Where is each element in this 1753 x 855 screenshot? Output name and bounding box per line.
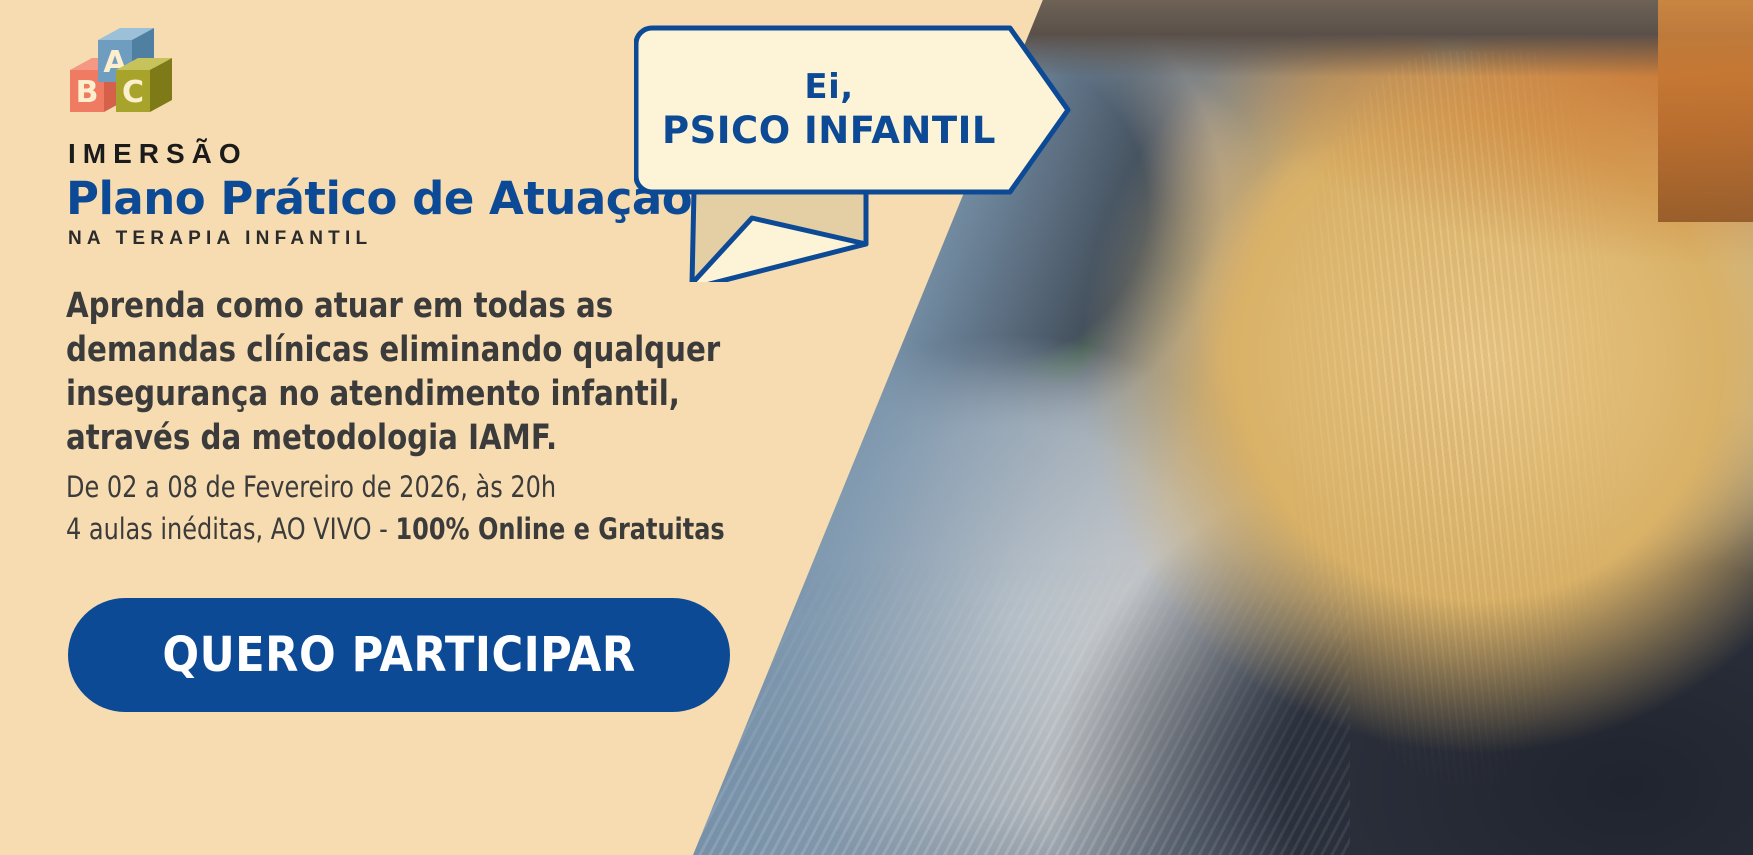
block-c-icon: C — [116, 58, 172, 112]
speech-bubble: Ei, PSICO INFANTIL — [634, 22, 1074, 282]
wall-panel — [1658, 0, 1753, 222]
svg-text:C: C — [122, 75, 144, 110]
svg-text:B: B — [76, 75, 99, 110]
page-title: Plano Prático de Atuação — [66, 172, 692, 225]
offer-line-highlight: 100% Online e Gratuitas — [395, 512, 724, 546]
promo-banner: B A C IMERSÃO Plano Prático de Atuação N… — [0, 0, 1753, 855]
offer-line-prefix: 4 aulas inéditas, AO VIVO - — [66, 512, 395, 546]
page-subtitle: NA TERAPIA INFANTIL — [68, 228, 372, 250]
floor-mat-texture — [693, 462, 1350, 855]
offer-line: 4 aulas inéditas, AO VIVO - 100% Online … — [66, 512, 725, 546]
bubble-body — [636, 28, 1068, 192]
eyebrow-label: IMERSÃO — [68, 138, 248, 170]
lede-paragraph: Aprenda como atuar em todas as demandas … — [66, 284, 773, 460]
abc-blocks-logo: B A C — [68, 28, 188, 136]
quero-participar-button[interactable]: QUERO PARTICIPAR — [68, 598, 730, 712]
schedule-line: De 02 a 08 de Fevereiro de 2026, às 20h — [66, 470, 556, 504]
